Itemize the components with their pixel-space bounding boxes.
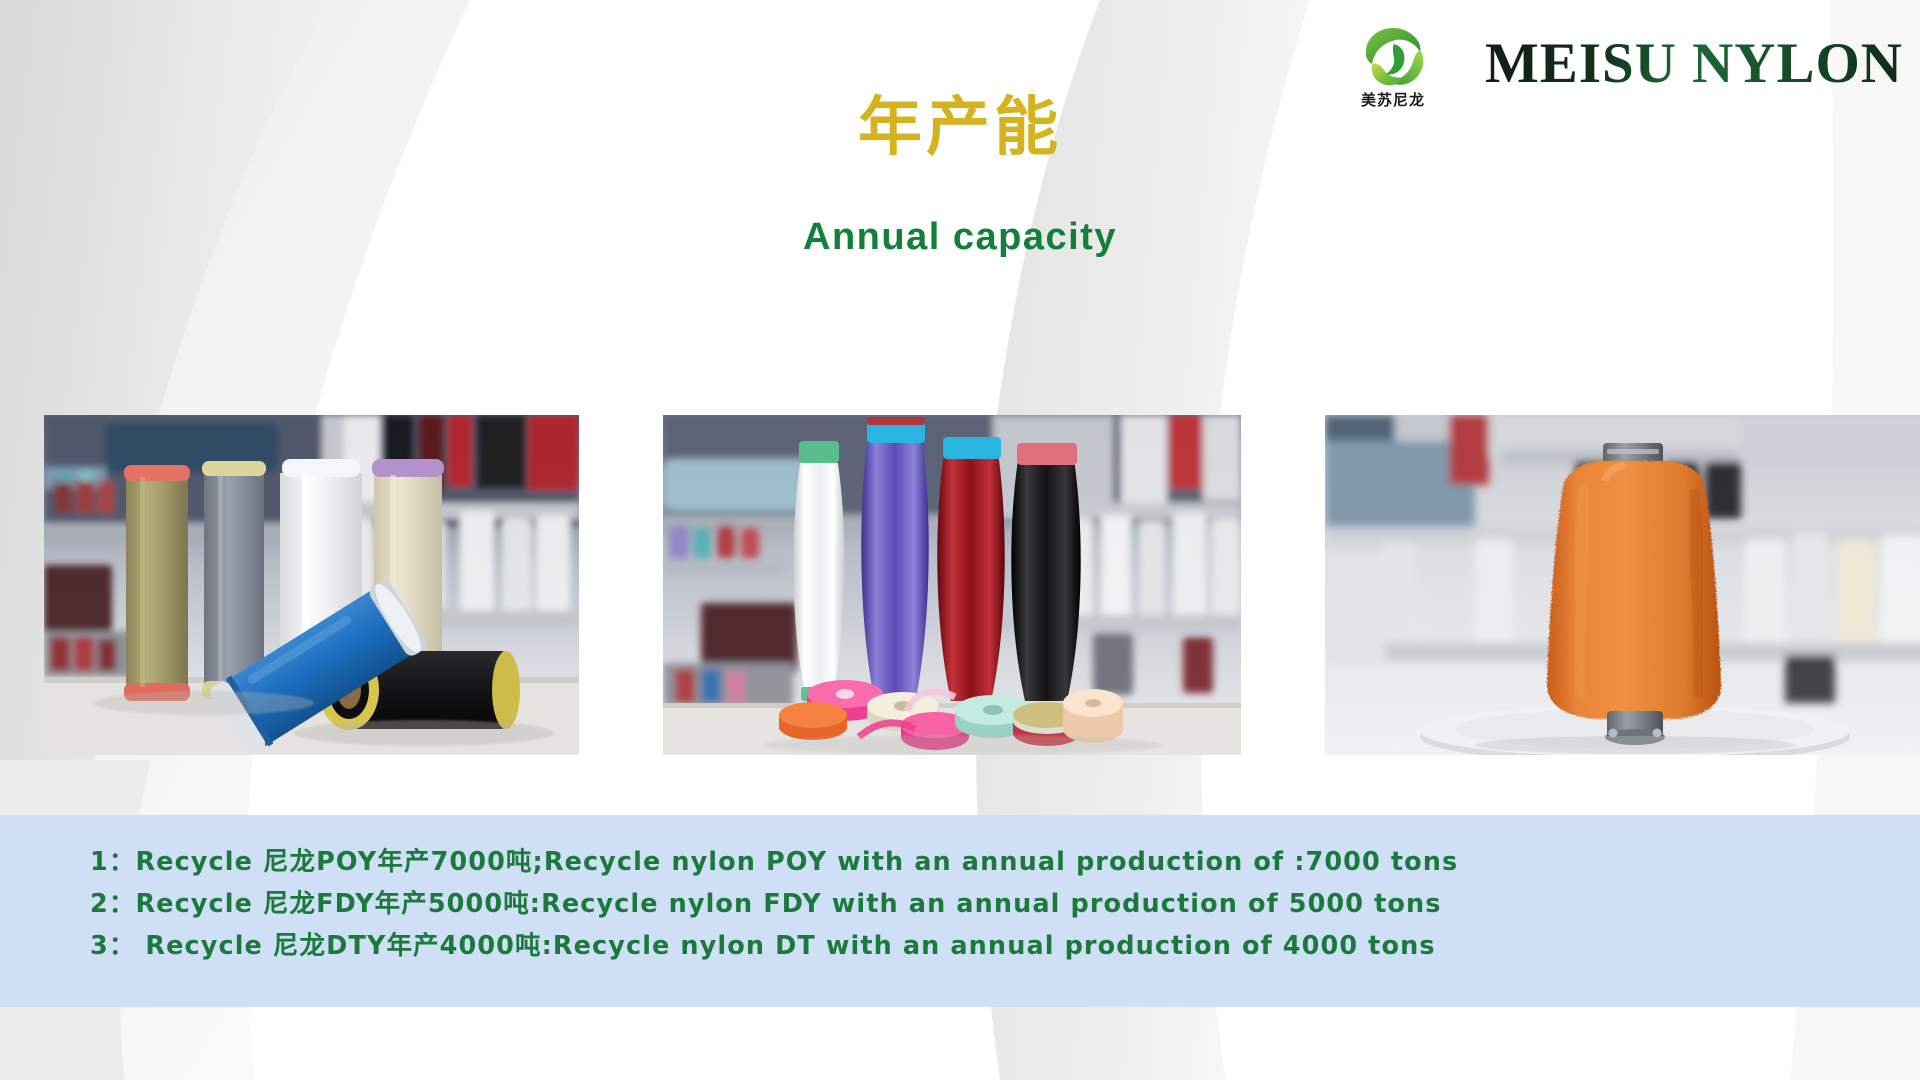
- capacity-line-1: 1：Recycle 尼龙POY年产7000吨;Recycle nylon POY…: [90, 841, 1920, 883]
- logo-wordmark: MEISU NYLON: [1485, 35, 1903, 92]
- page-title-english: Annual capacity: [0, 218, 1920, 256]
- product-photo-row: [44, 415, 1920, 755]
- capacity-caption-banner: 1：Recycle 尼龙POY年产7000吨;Recycle nylon POY…: [0, 815, 1920, 1007]
- capacity-line-3: 3： Recycle 尼龙DTY年产4000吨:Recycle nylon DT…: [90, 925, 1920, 967]
- page-title-chinese: 年产能: [0, 96, 1920, 160]
- yarn-bobbins-spindle-shaped-photo: [663, 415, 1241, 755]
- capacity-line-2: 2：Recycle 尼龙FDY年产5000吨:Recycle nylon FDY…: [90, 883, 1920, 925]
- yarn-cones-assorted-colors-photo: [44, 415, 579, 755]
- orange-fuzzy-yarn-cone-photo: [1325, 415, 1920, 755]
- leaf-circle-icon: [1356, 22, 1430, 88]
- yarn-bobbins-spindle-shaped-image: [663, 415, 1241, 755]
- slide-canvas: 美苏尼龙 MEISU NYLON 年产能 Annual capacity: [0, 0, 1920, 1080]
- orange-fuzzy-yarn-cone-image: [1325, 415, 1920, 755]
- yarn-cones-assorted-colors-image: [44, 415, 579, 755]
